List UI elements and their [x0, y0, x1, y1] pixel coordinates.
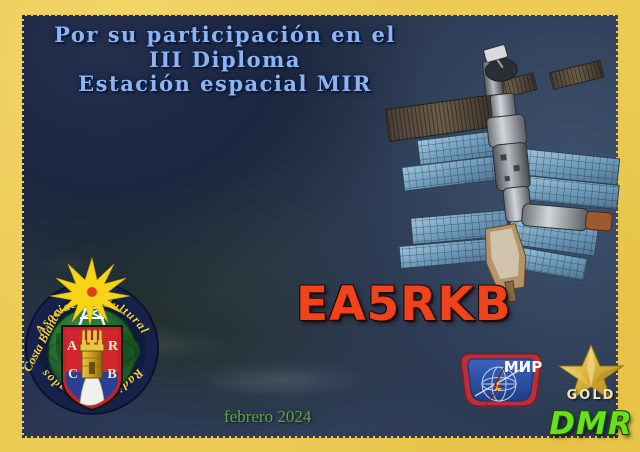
headline-line-3: Estación espacial MIR [30, 73, 420, 96]
gold-label: GOLD [552, 388, 630, 403]
headline-block: Por su participación en el III Diploma E… [30, 24, 420, 96]
club-emblem: Asociación Cultural Radioaficionados Cos… [16, 256, 168, 418]
emblem-letter-r: R [108, 339, 119, 354]
emblem-letter-a: A [67, 339, 78, 354]
mir-patch-logo: МИР [455, 348, 547, 410]
headline-line-1: Por su participación en el [30, 24, 420, 47]
dmr-label: DMR [546, 406, 636, 442]
emblem-shield: A R C B [62, 326, 122, 410]
mir-patch-text: МИР [504, 358, 542, 376]
emblem-letter-c: C [68, 367, 78, 382]
callsign-text: EA5RKB [296, 277, 512, 332]
headline-line-2: III Diploma [30, 49, 420, 72]
award-certificate-card: Por su participación en el III Diploma E… [0, 0, 640, 452]
date-text: febrero 2024 [224, 407, 311, 427]
emblem-letter-b: B [107, 367, 116, 382]
